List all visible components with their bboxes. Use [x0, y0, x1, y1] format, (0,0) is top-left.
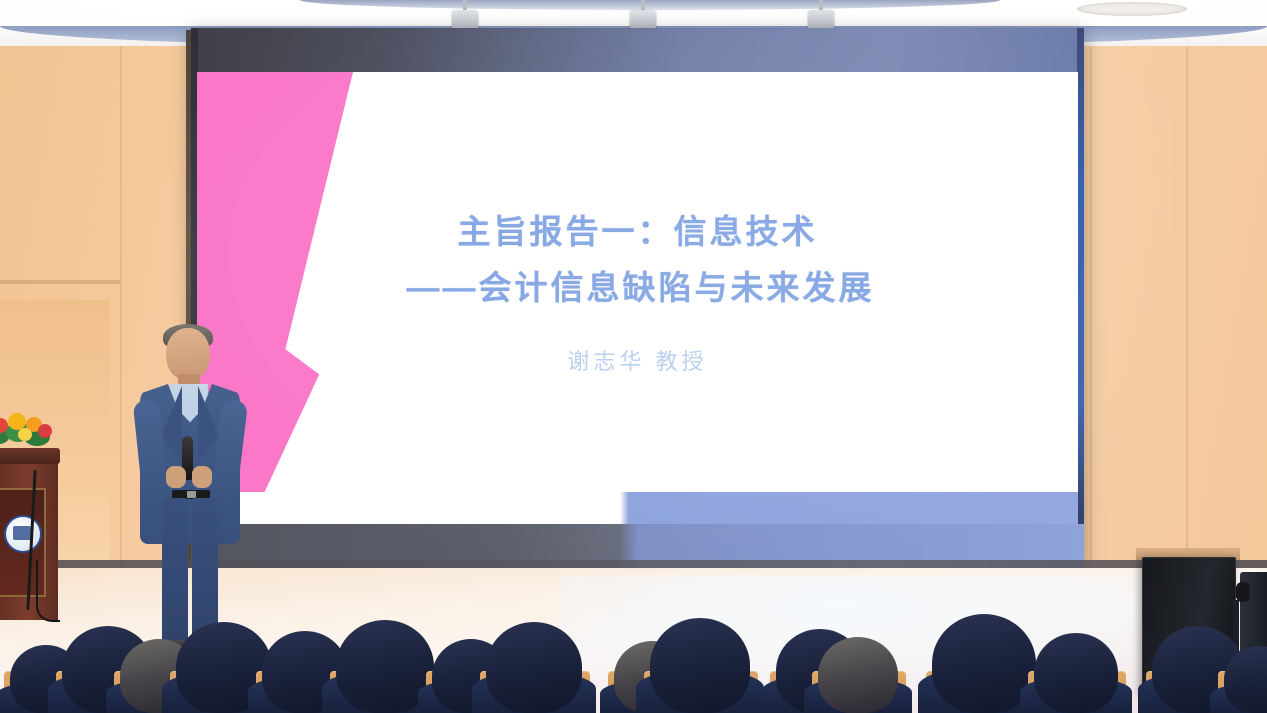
screen-top-bezel: [191, 28, 1084, 73]
audience-member-head: [1034, 633, 1118, 713]
lecture-hall-photo: 主旨报告一：信息技术 ——会计信息缺陷与未来发展 谢志华 教授: [0, 0, 1267, 713]
slide-footer-band: [197, 492, 1078, 525]
institution-crest-icon: [4, 515, 42, 553]
audience-member-head: [818, 637, 898, 713]
presenter-hand-left: [166, 466, 186, 488]
wall-seam: [1186, 0, 1188, 600]
audience-member-head: [486, 622, 582, 713]
audience-area: [0, 600, 1267, 713]
slide-title-line-2: ——会计信息缺陷与未来发展: [197, 260, 1078, 316]
wall-seam: [1090, 0, 1092, 600]
audience-member-head: [650, 618, 750, 713]
presenter-hand-right: [192, 466, 212, 488]
slide-viewport: 主旨报告一：信息技术 ——会计信息缺陷与未来发展 谢志华 教授: [197, 72, 1078, 525]
slide-presenter-name: 谢志华 教授: [197, 344, 1078, 376]
slide-title-line-1: 主旨报告一：信息技术: [197, 204, 1078, 260]
presenter-head: [166, 328, 210, 380]
presenter-belt-buckle: [187, 491, 196, 498]
floral-arrangement: [0, 410, 56, 458]
wall-seam: [120, 0, 122, 600]
projection-screen[interactable]: 主旨报告一：信息技术 ——会计信息缺陷与未来发展 谢志华 教授: [191, 28, 1084, 570]
slide-title-block: 主旨报告一：信息技术 ——会计信息缺陷与未来发展 谢志华 教授: [197, 204, 1078, 376]
speaker-stand-knob: [1236, 582, 1250, 602]
presentation-slide: 主旨报告一：信息技术 ——会计信息缺陷与未来发展 谢志华 教授: [197, 72, 1078, 525]
ceiling-vent: [1077, 2, 1187, 16]
wall-ledge-shadow: [0, 280, 120, 284]
screen-right-bezel: [1077, 28, 1084, 570]
